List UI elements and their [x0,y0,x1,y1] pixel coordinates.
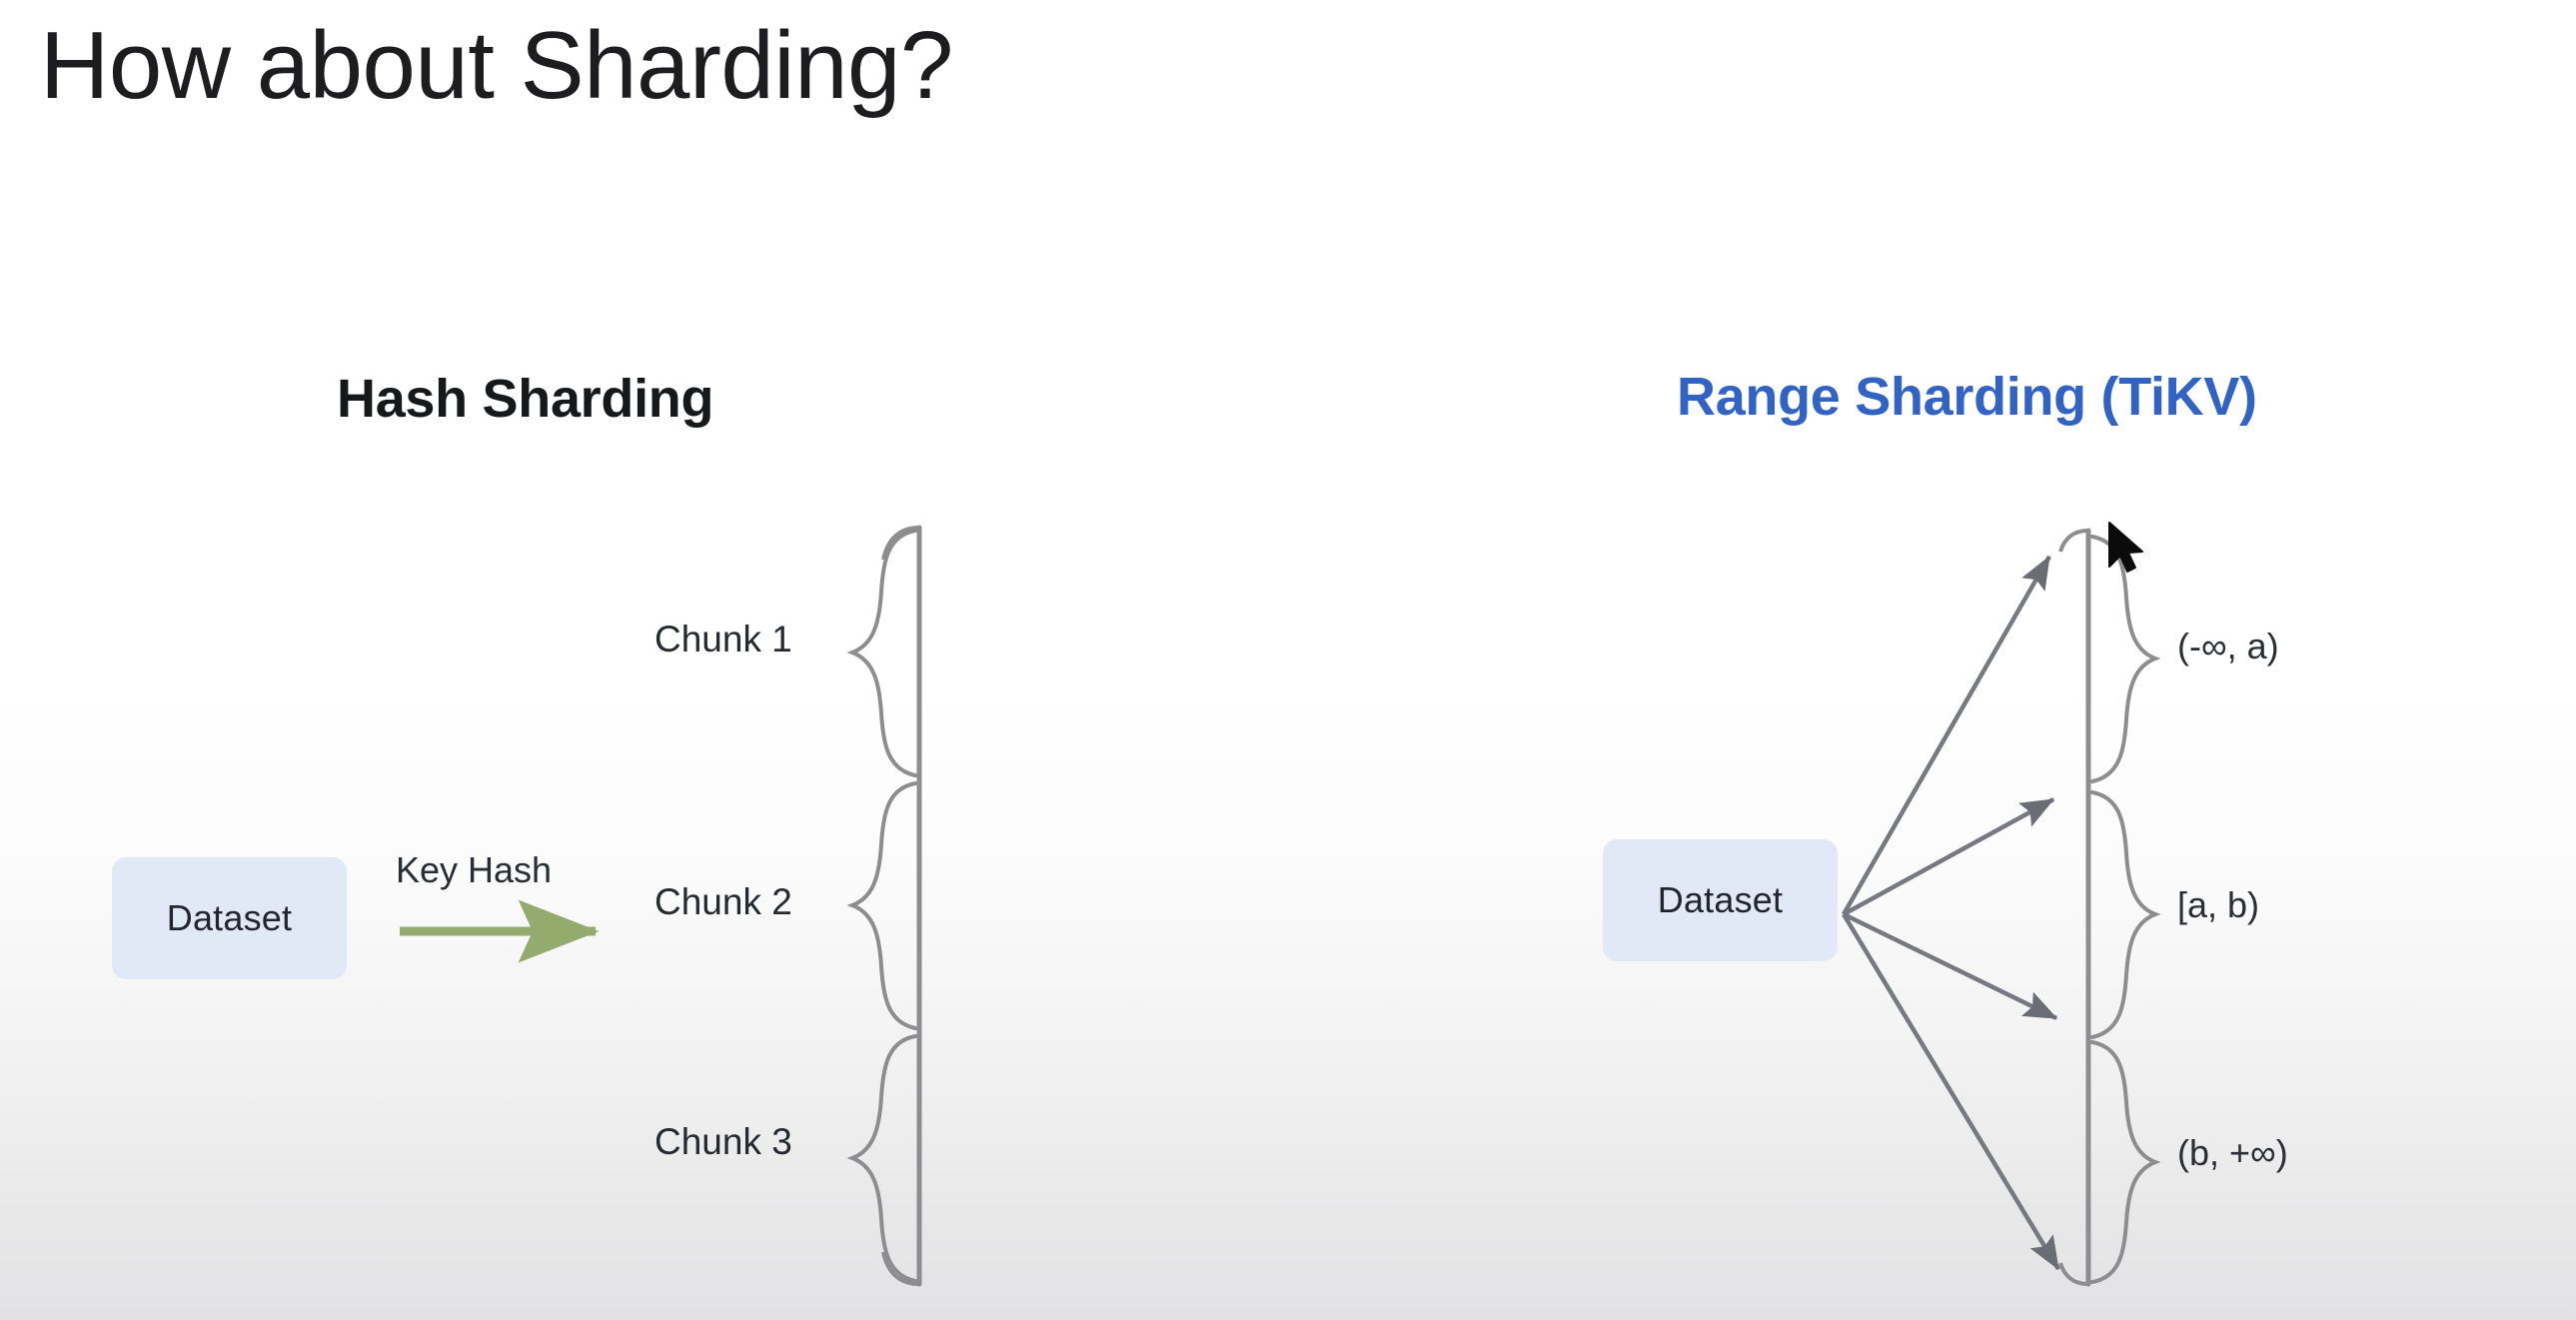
fanout-arrow-2 [1844,799,2053,914]
page-title: How about Sharding? [40,16,953,117]
dataset-box-hash: Dataset [112,857,347,979]
chunk-label-2: Chunk 2 [654,881,792,923]
key-hash-label: Key Hash [396,849,552,891]
mouse-pointer-icon [2102,521,2148,579]
chunk-label-3: Chunk 3 [654,1121,792,1163]
dataset-box-range: Dataset [1603,839,1838,961]
chunk-label-1: Chunk 1 [654,619,792,660]
range-label-b-positive-infinity: (b, +∞) [2177,1132,2288,1174]
range-fanout-arrows [1844,557,2058,1269]
fanout-arrow-4 [1844,914,2058,1269]
fanout-arrow-1 [1844,557,2049,914]
slide-canvas: How about Sharding? Hash Sharding Range … [0,0,2576,1320]
hash-sharding-bar [883,528,919,1284]
panel-heading-range-sharding: Range Sharding (TiKV) [1677,366,2257,428]
range-partition-braces [2092,537,2155,1282]
range-label-negative-infinity-a: (-∞, a) [2177,626,2279,667]
range-label-a-b: [a, b) [2177,884,2259,926]
panel-heading-hash-sharding: Hash Sharding [337,368,713,430]
range-sharding-bar [2060,531,2088,1284]
fanout-arrow-3 [1844,914,2056,1018]
hash-chunk-braces [852,531,915,1281]
